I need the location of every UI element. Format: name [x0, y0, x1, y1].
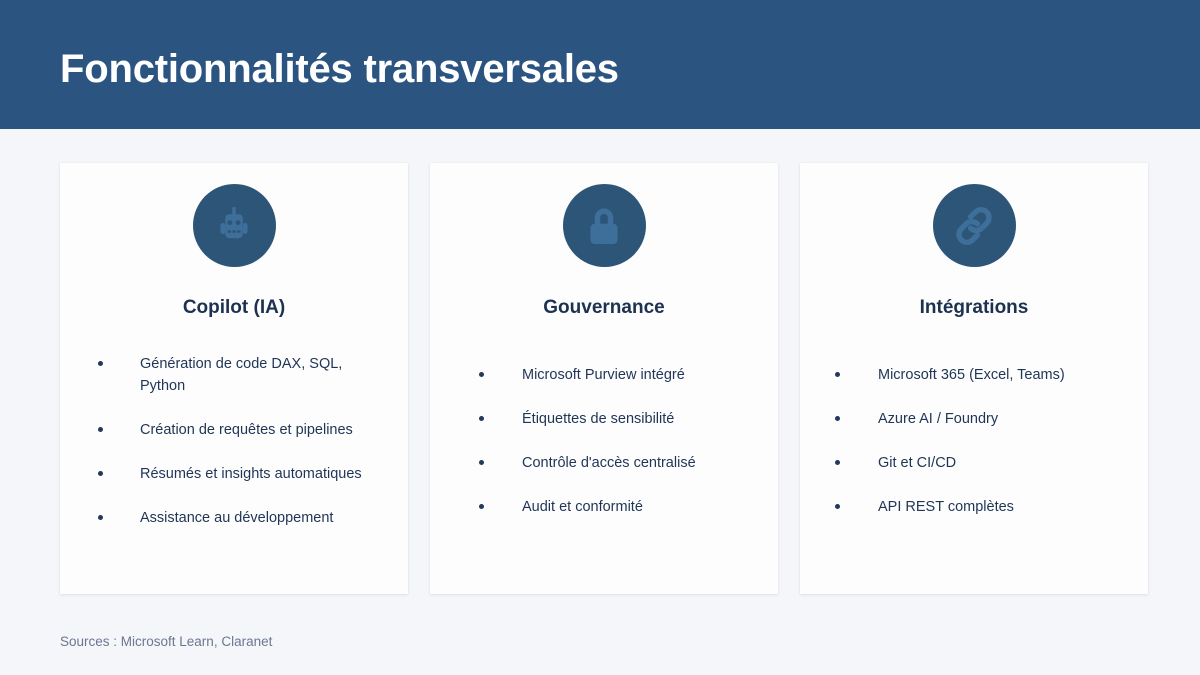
feature-card-integrations[interactable]: Intégrations Microsoft 365 (Excel, Teams… [800, 163, 1148, 594]
bullet-dot-icon [479, 372, 484, 377]
page-title: Fonctionnalités transversales [60, 45, 619, 93]
list-item: Microsoft 365 (Excel, Teams) [818, 364, 1130, 386]
card-bullet-area: Microsoft Purview intégré Étiquettes de … [448, 320, 760, 570]
link-icon [933, 184, 1016, 267]
feature-card-row: Copilot (IA) Génération de code DAX, SQL… [60, 163, 1148, 594]
bullet-text: Génération de code DAX, SQL, Python [140, 353, 372, 397]
card-title: Intégrations [920, 296, 1029, 320]
bullet-text: Contrôle d'accès centralisé [522, 452, 696, 474]
bullet-text: Azure AI / Foundry [878, 408, 998, 430]
bullet-text: Assistance au développement [140, 507, 372, 529]
bullet-text: Audit et conformité [522, 496, 643, 518]
feature-card-copilot[interactable]: Copilot (IA) Génération de code DAX, SQL… [60, 163, 408, 594]
bullet-list: Génération de code DAX, SQL, Python Créa… [78, 353, 390, 529]
bullet-list: Microsoft Purview intégré Étiquettes de … [448, 364, 760, 518]
bullet-dot-icon [835, 416, 840, 421]
bullet-text: Microsoft 365 (Excel, Teams) [878, 364, 1065, 386]
bullet-dot-icon [98, 361, 103, 366]
list-item: Contrôle d'accès centralisé [448, 452, 760, 474]
bullet-dot-icon [835, 460, 840, 465]
card-bullet-area: Génération de code DAX, SQL, Python Créa… [78, 320, 390, 570]
list-item: Git et CI/CD [818, 452, 1130, 474]
list-item: Azure AI / Foundry [818, 408, 1130, 430]
list-item: Génération de code DAX, SQL, Python [78, 353, 390, 397]
bullet-dot-icon [479, 416, 484, 421]
list-item: Résumés et insights automatiques [78, 463, 390, 485]
bullet-dot-icon [98, 427, 103, 432]
bullet-text: API REST complètes [878, 496, 1014, 518]
bullet-text: Création de requêtes et pipelines [140, 419, 372, 441]
bullet-text: Microsoft Purview intégré [522, 364, 685, 386]
card-bullet-area: Microsoft 365 (Excel, Teams) Azure AI / … [818, 320, 1130, 570]
card-title: Copilot (IA) [183, 296, 285, 320]
footer-sources: Sources : Microsoft Learn, Claranet [60, 633, 272, 651]
list-item: Création de requêtes et pipelines [78, 419, 390, 441]
list-item: Étiquettes de sensibilité [448, 408, 760, 430]
bullet-text: Git et CI/CD [878, 452, 956, 474]
bullet-dot-icon [479, 460, 484, 465]
bullet-text: Résumés et insights automatiques [140, 463, 372, 485]
list-item: API REST complètes [818, 496, 1130, 518]
slide-root: Fonctionnalités transversales [0, 0, 1200, 675]
list-item: Assistance au développement [78, 507, 390, 529]
bullet-dot-icon [479, 504, 484, 509]
bullet-list: Microsoft 365 (Excel, Teams) Azure AI / … [818, 364, 1130, 518]
bullet-text: Étiquettes de sensibilité [522, 408, 674, 430]
card-title: Gouvernance [543, 296, 664, 320]
robot-icon [193, 184, 276, 267]
list-item: Audit et conformité [448, 496, 760, 518]
bullet-dot-icon [835, 372, 840, 377]
list-item: Microsoft Purview intégré [448, 364, 760, 386]
lock-icon [563, 184, 646, 267]
bullet-dot-icon [98, 515, 103, 520]
feature-card-gouvernance[interactable]: Gouvernance Microsoft Purview intégré Ét… [430, 163, 778, 594]
bullet-dot-icon [98, 471, 103, 476]
bullet-dot-icon [835, 504, 840, 509]
header-band: Fonctionnalités transversales [0, 0, 1200, 129]
